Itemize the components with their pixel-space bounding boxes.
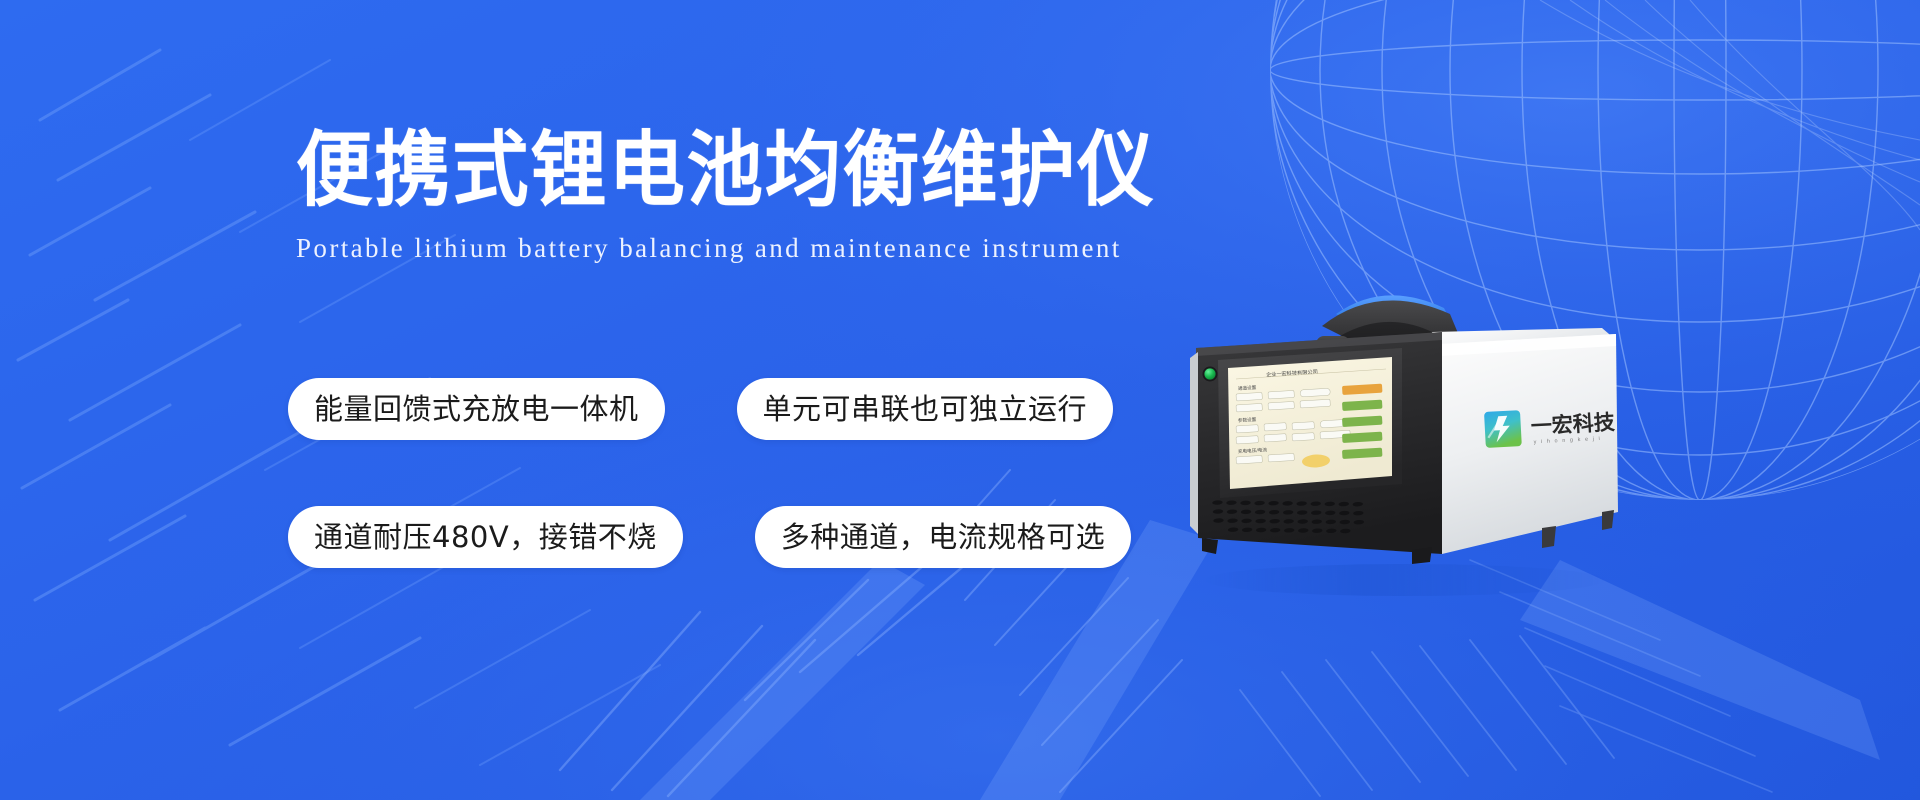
feature-pill[interactable]: 通道耐压480V，接错不烧: [288, 506, 683, 568]
feature-pill-row-2: 通道耐压480V，接错不烧 多种通道，电流规格可选: [288, 506, 1108, 568]
device-foot: [1602, 510, 1614, 530]
device-illustration-svg: 一宏科技 y i h o n g k e j i 企业一宏科技有限公司 通道设置: [1140, 262, 1660, 602]
feature-pill[interactable]: 单元可串联也可独立运行: [737, 378, 1114, 440]
hero-content: 便携式锂电池均衡维护仪 Portable lithium battery bal…: [0, 0, 1150, 800]
feature-pill-list: 能量回馈式充放电一体机 单元可串联也可独立运行 通道耐压480V，接错不烧 多种…: [288, 378, 1108, 634]
feature-pill-row-1: 能量回馈式充放电一体机 单元可串联也可独立运行: [288, 378, 1108, 440]
title-block: 便携式锂电池均衡维护仪 Portable lithium battery bal…: [296, 128, 1116, 264]
page-subtitle: Portable lithium battery balancing and m…: [296, 232, 1116, 264]
banner-root: 便携式锂电池均衡维护仪 Portable lithium battery bal…: [0, 0, 1920, 800]
feature-pill[interactable]: 多种通道，电流规格可选: [755, 506, 1132, 568]
device-foot: [1202, 538, 1218, 554]
brand-name-text: 一宏科技: [1530, 410, 1616, 438]
device-shadow: [1205, 564, 1605, 596]
device-foot: [1542, 526, 1556, 548]
feature-pill[interactable]: 能量回馈式充放电一体机: [288, 378, 665, 440]
power-indicator-icon[interactable]: [1204, 368, 1215, 379]
page-title: 便携式锂电池均衡维护仪: [296, 128, 1059, 214]
device-body-side: [1440, 334, 1618, 554]
device-left-edge: [1190, 352, 1198, 534]
device-photo: 一宏科技 y i h o n g k e j i 企业一宏科技有限公司 通道设置: [1140, 262, 1660, 602]
